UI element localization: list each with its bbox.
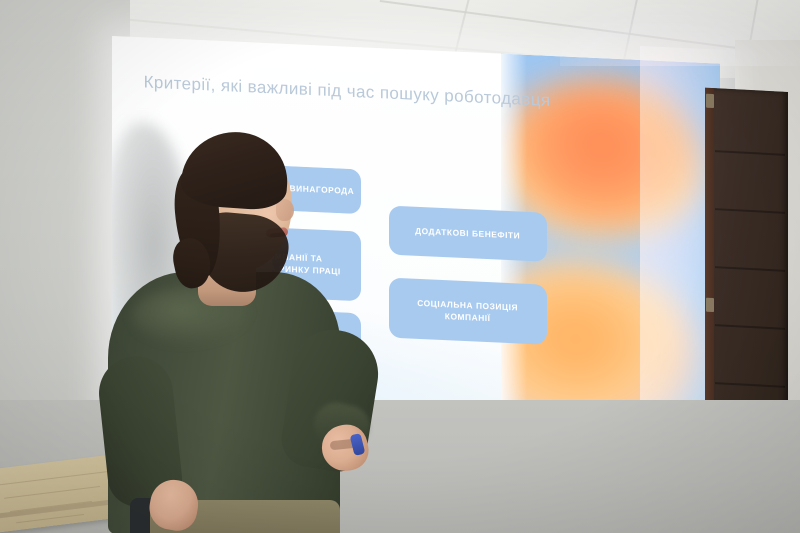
- slide-box-social-position: СОЦІАЛЬНА ПОЗИЦІЯ КОМПАНІЇ: [389, 277, 547, 344]
- door-panel-line: [715, 150, 785, 156]
- door-panel-line: [715, 266, 785, 272]
- slide-box-extra-benefits: ДОДАТКОВІ БЕНЕФІТИ: [389, 206, 547, 262]
- table-grain-line: [0, 471, 108, 486]
- presentation-scene: Критерії, які важливі під час пошуку роб…: [0, 0, 800, 533]
- door-panel-line: [715, 208, 785, 214]
- projected-slide: Критерії, які важливі під час пошуку роб…: [112, 36, 720, 452]
- door-panel-line: [715, 382, 785, 388]
- door-panel-line: [715, 324, 785, 330]
- table-grain-line: [4, 486, 100, 499]
- table-grain-line: [16, 514, 84, 523]
- door-hinge-icon: [706, 94, 714, 108]
- door-hinge-icon: [706, 298, 714, 312]
